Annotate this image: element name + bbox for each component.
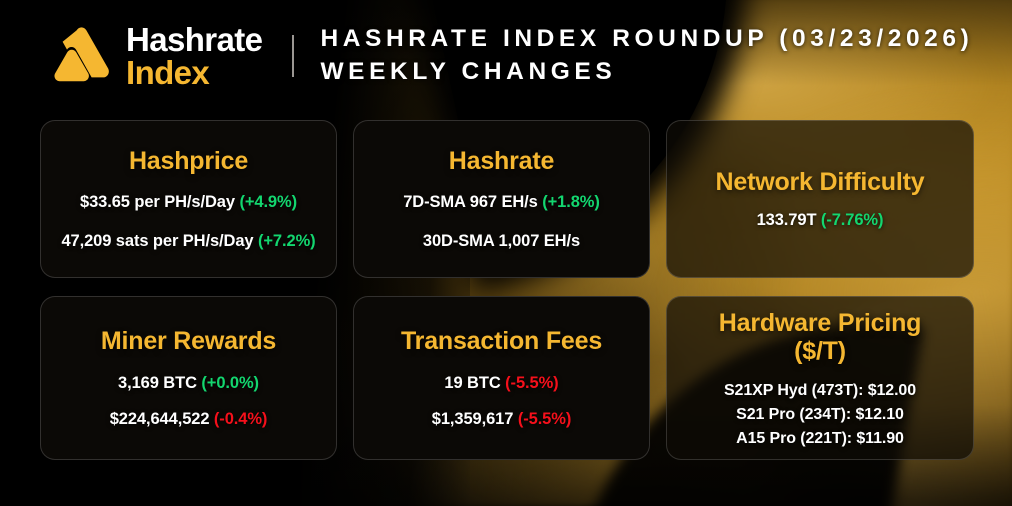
header-bar: Hashrate Index HASHRATE INDEX ROUNDUP (0… bbox=[0, 0, 1012, 112]
metric-line: 47,209 sats per PH/s/Day (+7.2%) bbox=[61, 232, 315, 251]
metric-card-grid: Hashprice $33.65 per PH/s/Day (+4.9%) 47… bbox=[40, 120, 974, 460]
card-title: Hashrate bbox=[449, 147, 554, 176]
metric-line: A15 Pro (221T): $11.90 bbox=[736, 430, 904, 448]
metric-delta: (-5.5%) bbox=[518, 410, 571, 428]
header-divider bbox=[292, 35, 294, 77]
metric-line: 30D-SMA 1,007 EH/s bbox=[423, 232, 580, 251]
metric-card-transaction-fees[interactable]: Transaction Fees 19 BTC (-5.5%) $1,359,6… bbox=[353, 296, 650, 460]
card-title-line2: ($/T) bbox=[794, 337, 846, 365]
brand-wordmark: Hashrate Index bbox=[126, 23, 262, 89]
card-title: Miner Rewards bbox=[101, 327, 276, 356]
metric-value: 133.79T bbox=[757, 211, 817, 229]
card-title-line1: Hardware Pricing bbox=[719, 309, 921, 337]
metric-line: $1,359,617 (-5.5%) bbox=[432, 410, 571, 429]
metric-line: S21 Pro (234T): $12.10 bbox=[736, 406, 904, 424]
page-title: HASHRATE INDEX ROUNDUP (03/23/2026) WEEK… bbox=[320, 23, 973, 88]
card-title: Hashprice bbox=[129, 147, 248, 176]
metric-card-network-difficulty[interactable]: Network Difficulty 133.79T (-7.76%) bbox=[666, 120, 974, 278]
metric-value: $224,644,522 bbox=[110, 410, 210, 428]
metric-value: 3,169 BTC bbox=[118, 374, 197, 392]
metric-delta: (+7.2%) bbox=[258, 232, 316, 250]
metric-line: 7D-SMA 967 EH/s (+1.8%) bbox=[403, 193, 600, 212]
metric-value: 47,209 sats per PH/s/Day bbox=[61, 232, 253, 250]
metric-delta: (-5.5%) bbox=[505, 374, 558, 392]
page-title-line2: WEEKLY CHANGES bbox=[320, 56, 973, 89]
metric-line: 133.79T (-7.76%) bbox=[757, 211, 884, 230]
metric-line: $224,644,522 (-0.4%) bbox=[110, 410, 268, 429]
page-title-line1: HASHRATE INDEX ROUNDUP (03/23/2026) bbox=[320, 25, 973, 52]
card-title: Hardware Pricing ($/T) bbox=[719, 309, 921, 366]
metric-delta: (+1.8%) bbox=[542, 193, 600, 211]
infographic-canvas: Hashrate Index HASHRATE INDEX ROUNDUP (0… bbox=[0, 0, 1012, 506]
metric-line: 19 BTC (-5.5%) bbox=[444, 374, 558, 393]
metric-card-miner-rewards[interactable]: Miner Rewards 3,169 BTC (+0.0%) $224,644… bbox=[40, 296, 337, 460]
metric-card-hashrate[interactable]: Hashrate 7D-SMA 967 EH/s (+1.8%) 30D-SMA… bbox=[353, 120, 650, 278]
metric-delta: (-7.76%) bbox=[821, 211, 883, 229]
metric-delta: (-0.4%) bbox=[214, 410, 267, 428]
metric-value: 19 BTC bbox=[444, 374, 500, 392]
brand-wordmark-line1: Hashrate bbox=[126, 23, 262, 56]
metric-delta: (+4.9%) bbox=[239, 193, 297, 211]
metric-line: $33.65 per PH/s/Day (+4.9%) bbox=[80, 193, 297, 212]
hashrate-index-triangle-icon bbox=[46, 27, 110, 85]
metric-card-hashprice[interactable]: Hashprice $33.65 per PH/s/Day (+4.9%) 47… bbox=[40, 120, 337, 278]
metric-delta: (+0.0%) bbox=[201, 374, 259, 392]
metric-value: 7D-SMA 967 EH/s bbox=[403, 193, 538, 211]
metric-value: $1,359,617 bbox=[432, 410, 514, 428]
metric-value: $33.65 per PH/s/Day bbox=[80, 193, 235, 211]
brand-wordmark-line2: Index bbox=[126, 56, 262, 89]
metric-value: 30D-SMA 1,007 EH/s bbox=[423, 232, 580, 250]
metric-card-hardware-pricing[interactable]: Hardware Pricing ($/T) S21XP Hyd (473T):… bbox=[666, 296, 974, 460]
metric-line: S21XP Hyd (473T): $12.00 bbox=[724, 382, 916, 400]
brand-logo[interactable]: Hashrate Index bbox=[46, 23, 262, 89]
card-title: Network Difficulty bbox=[716, 168, 925, 197]
metric-line: 3,169 BTC (+0.0%) bbox=[118, 374, 259, 393]
card-title: Transaction Fees bbox=[401, 327, 602, 356]
